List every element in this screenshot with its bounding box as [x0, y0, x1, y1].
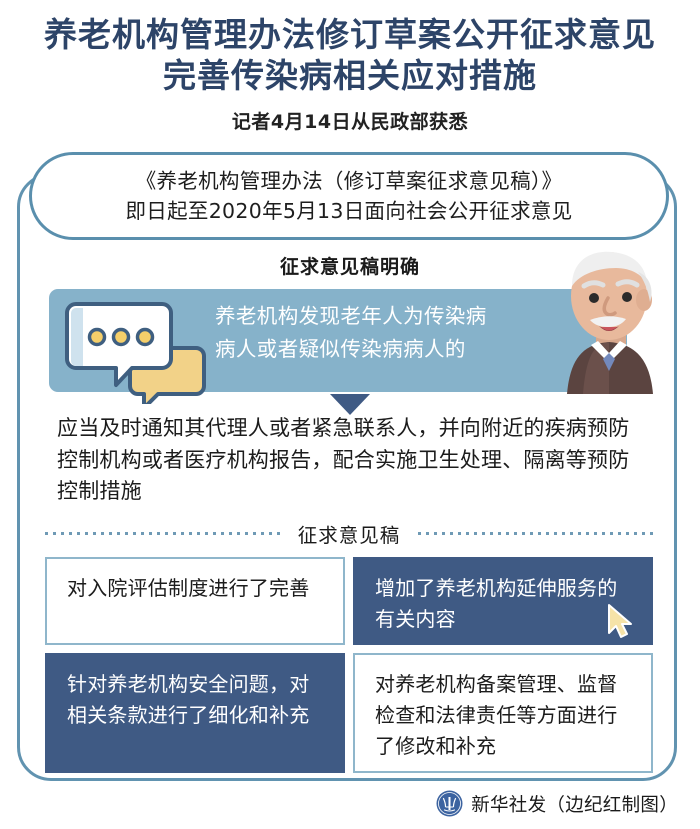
quote-text: 养老机构发现老年人为传染病 病人或者疑似传染病病人的 — [215, 300, 555, 366]
quote-line-2: 病人或者疑似传染病病人的 — [215, 333, 555, 366]
page-subtitle: 记者4月14日从民政部获悉 — [0, 107, 700, 134]
section-divider: 征求意见稿 — [45, 518, 653, 548]
title-line-1: 养老机构管理办法修订草案公开征求意见 — [0, 14, 700, 55]
down-triangle-icon — [330, 394, 370, 415]
quote-line-1: 养老机构发现老年人为传染病 — [215, 300, 555, 333]
summary-box-4[interactable]: 对养老机构备案管理、监督检查和法律责任等方面进行了修改和补充 — [353, 653, 653, 773]
speech-bubble-icon — [60, 300, 212, 404]
quote-section-heading: 征求意见稿明确 — [0, 252, 700, 279]
notice-line-1: 《养老机构管理办法（修订草案征求意见稿）》 — [136, 166, 563, 196]
summary-box-2-text: 增加了养老机构延伸服务的有关内容 — [375, 576, 617, 631]
notice-line-2: 即日起至2020年5月13日面向社会公开征求意见 — [126, 196, 573, 226]
cursor-arrow-icon — [605, 603, 635, 639]
title-line-2: 完善传染病相关应对措施 — [0, 55, 700, 96]
quote-paragraph: 应当及时通知其代理人或者紧急联系人，并向附近的疾病预防控制机构或者医疗机构报告，… — [57, 413, 647, 508]
notice-pill: 《养老机构管理办法（修订草案征求意见稿）》 即日起至2020年5月13日面向社会… — [29, 152, 669, 240]
footer: 新华社发（边纪红制图） — [0, 790, 700, 817]
page-title: 养老机构管理办法修订草案公开征求意见 完善传染病相关应对措施 记者4月14日从民… — [0, 14, 700, 134]
divider-label: 征求意见稿 — [294, 519, 405, 548]
xinhua-logo-icon — [436, 790, 463, 817]
divider-dots-right — [418, 532, 653, 535]
summary-box-2[interactable]: 增加了养老机构延伸服务的有关内容 — [353, 557, 653, 645]
divider-dots-left — [45, 532, 280, 535]
footer-credit: 新华社发（边纪红制图） — [471, 791, 678, 817]
summary-box-1[interactable]: 对入院评估制度进行了完善 — [45, 557, 345, 645]
summary-box-3[interactable]: 针对养老机构安全问题，对相关条款进行了细化和补充 — [45, 653, 345, 773]
